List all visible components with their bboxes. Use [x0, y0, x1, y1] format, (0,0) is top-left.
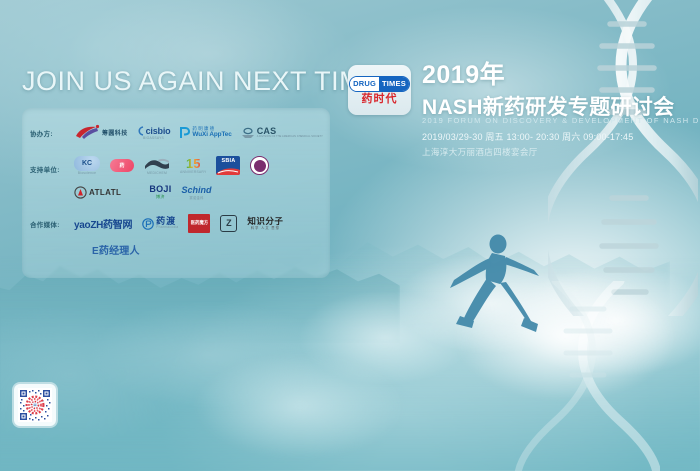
- sponsor-panel: 协办方: 筹圆科技 cisbio: [22, 108, 330, 278]
- zhengfang-swoosh-icon: [74, 124, 100, 141]
- cloud-highlight-center: [150, 331, 450, 471]
- logo-zhicheng-fenzi: 知识分子 科学 人文 思想: [247, 217, 283, 231]
- sponsor-row-label: 支持单位:: [30, 156, 74, 174]
- poster-canvas: JOIN US AGAIN NEXT TIME! DRUG TIMES 药时代 …: [0, 0, 700, 471]
- sponsor-logo-group: KC Bioscience 药 MEDICHEM: [74, 156, 324, 200]
- logo-text: ATLATL: [89, 188, 121, 197]
- sponsor-row-media: 合作媒体: yaoZH药智网 药渡 Pharmacodia: [22, 200, 330, 257]
- dark-wave-mark-icon: [144, 157, 170, 171]
- sponsor-logo-group: 筹圆科技 cisbio BIOASSAYS: [74, 124, 323, 141]
- logo-eyao-manager: E药经理人: [92, 242, 140, 257]
- logo-purple-circle: [250, 156, 269, 175]
- cisbio-mark-icon: [137, 126, 145, 136]
- logo-text: Z: [226, 219, 232, 228]
- logo-caption: MEDICHEM: [147, 171, 167, 175]
- logo-text: yaoZH药智网: [74, 216, 132, 231]
- logo-text: KC: [82, 160, 92, 167]
- logo-text: 药: [119, 162, 124, 169]
- sponsor-row-label: 合作媒体:: [30, 214, 74, 229]
- wechat-qr-code[interactable]: [14, 384, 56, 426]
- sponsor-row-co-organizers: 协办方: 筹圆科技 cisbio: [22, 108, 330, 141]
- headline-text: JOIN US AGAIN NEXT TIME!: [22, 66, 389, 97]
- logo-schind: Schind 赛诺金科: [182, 186, 212, 200]
- logo-wuxi-apptec: 药明康德 WuXi AppTec: [179, 127, 231, 139]
- logo-sbia: SBIA: [216, 156, 240, 175]
- logo-text: BOJI: [149, 185, 171, 194]
- logo-caption: ANNIVERSARY: [180, 170, 206, 174]
- logo-text: 医药魔方: [191, 221, 209, 226]
- logo-cas: CAS A DIVISION OF THE AMERICAN CHEMICAL …: [241, 127, 323, 139]
- logo-pink-pill: 药: [110, 159, 134, 172]
- pharmacodia-mark-icon: [142, 218, 154, 230]
- logo-caption: Pharmacodia: [156, 226, 178, 229]
- logo-zhi-z: Z: [220, 215, 237, 232]
- logo-pharmacodia: 药渡 Pharmacodia: [142, 217, 178, 229]
- drug-times-pill: DRUG TIMES: [349, 76, 410, 92]
- pill-right-label: TIMES: [379, 77, 409, 91]
- logo-atlatl: ATLATL: [74, 186, 121, 199]
- logo-caption: 赛诺金科: [189, 195, 203, 200]
- sponsor-row-supporters: 支持单位: KC Bioscience 药: [22, 141, 330, 200]
- logo-text: 知识分子: [247, 217, 283, 226]
- event-subtitle-en: 2019 FORUM ON DISCOVERY & DEVELOPMENT OF…: [422, 116, 700, 125]
- logo-caption: 科学 人文 思想: [251, 225, 280, 230]
- wuxi-mark-icon: [179, 127, 190, 139]
- logo-dark-wave: MEDICHEM: [144, 157, 170, 175]
- sbia-swoosh-icon: [216, 166, 240, 175]
- logo-kc: KC Bioscience: [74, 156, 100, 175]
- logo-text: Schind: [182, 186, 212, 195]
- logo-text: E药经理人: [92, 242, 140, 257]
- logo-caption: Bioscience: [78, 171, 96, 175]
- running-figure-silhouette-icon: [430, 210, 570, 350]
- brand-chinese-name: 药时代: [362, 94, 398, 105]
- logo-text: 15: [186, 157, 200, 170]
- atlatl-mark-icon: [74, 186, 87, 199]
- sponsor-logo-group: yaoZH药智网 药渡 Pharmacodia 医药魔方: [74, 214, 324, 257]
- pill-left-label: DRUG: [350, 77, 379, 91]
- logo-caption: A DIVISION OF THE AMERICAN CHEMICAL SOCI…: [257, 136, 323, 139]
- dna-helix-icon: [548, 0, 698, 316]
- logo-text: SBIA: [221, 158, 235, 164]
- cas-mark-icon: [241, 127, 255, 139]
- event-venue: 上海淳大万丽酒店四楼宴会厅: [422, 146, 538, 158]
- event-date: 2019/03/29-30 周五 13:00- 20:30 周六 09:00-1…: [422, 130, 633, 143]
- logo-fifteen-anniversary: 15 ANNIVERSARY: [180, 157, 206, 174]
- logo-text: 筹圆科技: [102, 128, 128, 137]
- logo-text: cisbio: [146, 126, 171, 136]
- logo-yaozh: yaoZH药智网: [74, 216, 132, 231]
- drug-times-logo: DRUG TIMES 药时代: [348, 65, 411, 115]
- sponsor-row-label: 协办方:: [30, 128, 74, 138]
- logo-caption: BIOASSAYS: [143, 136, 164, 140]
- logo-yiyaomofang: 医药魔方: [188, 214, 210, 233]
- logo-cisbio: cisbio BIOASSAYS: [137, 126, 171, 140]
- logo-text: WuXi AppTec: [192, 132, 231, 138]
- logo-zhengfang-keji: 筹圆科技: [74, 124, 128, 141]
- qr-code-icon: [18, 388, 52, 422]
- event-title-year: 2019年: [422, 62, 505, 88]
- logo-boji: BOJI 博济: [149, 185, 171, 200]
